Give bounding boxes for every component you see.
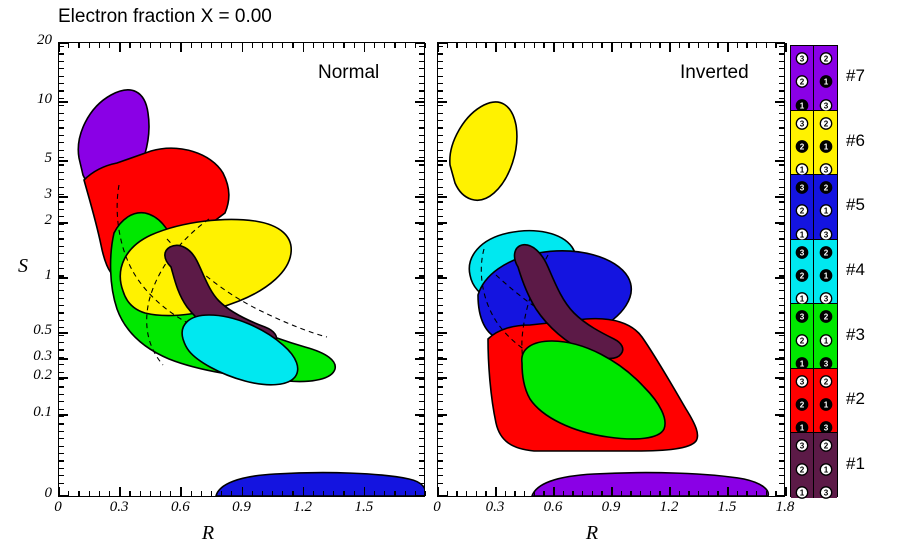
y-tick-label-9: 0.1: [8, 404, 52, 421]
y-minor-tick: [419, 475, 424, 476]
y-tick-label-7: 0.3: [8, 348, 52, 365]
y-minor-tick: [419, 409, 424, 410]
y-minor-tick: [438, 394, 443, 395]
y-minor-tick: [419, 379, 424, 380]
x-minor-tick: [592, 43, 593, 48]
y-minor-tick: [779, 261, 784, 262]
y-minor-tick: [59, 379, 64, 380]
x-minor-tick: [262, 43, 263, 48]
x-minor-tick: [485, 43, 486, 48]
x-minor-tick: [563, 491, 564, 496]
y-minor-tick: [438, 68, 443, 69]
y-minor-tick: [438, 446, 443, 447]
legend-tag-scheme-6: #6: [846, 131, 865, 151]
x-minor-tick: [221, 43, 222, 48]
y-minor-tick: [419, 135, 424, 136]
legend-column-right: 213: [814, 433, 837, 498]
y-minor-tick: [779, 431, 784, 432]
x-minor-tick: [109, 43, 110, 48]
svg-text:1: 1: [823, 336, 828, 345]
x-minor-tick: [384, 491, 385, 496]
y-minor-tick: [419, 68, 424, 69]
normal-regions-svg: [59, 43, 425, 497]
y-minor-tick: [779, 468, 784, 469]
y-minor-tick: [779, 246, 784, 247]
y-minor-tick: [419, 372, 424, 373]
y-minor-tick: [779, 394, 784, 395]
svg-text:1: 1: [823, 142, 828, 151]
y-minor-tick: [419, 246, 424, 247]
x-minor-tick: [456, 491, 457, 496]
x-minor-tick: [524, 491, 525, 496]
y-minor-tick: [59, 298, 64, 299]
y-tick-mark: [775, 101, 784, 103]
y-minor-tick: [419, 275, 424, 276]
y-tick-mark: [415, 332, 424, 334]
y-minor-tick: [59, 61, 64, 62]
y-minor-tick: [438, 401, 443, 402]
x-minor-tick: [303, 491, 304, 496]
y-minor-tick: [59, 446, 64, 447]
y-minor-tick: [438, 335, 443, 336]
mass-state-1-icon: 1: [819, 334, 832, 347]
y-minor-tick: [59, 172, 64, 173]
y-minor-tick: [419, 90, 424, 91]
x-minor-tick: [58, 43, 59, 48]
y-minor-tick: [419, 349, 424, 350]
legend-row[interactable]: 321213: [791, 111, 837, 176]
plot-panel-inverted: [437, 42, 785, 497]
x-minor-tick: [221, 491, 222, 496]
mass-state-3-icon: 3: [796, 117, 809, 130]
y-tick-mark: [59, 332, 68, 334]
legend-row[interactable]: 321213: [791, 175, 837, 240]
x-minor-tick: [495, 43, 496, 48]
y-minor-tick: [438, 46, 443, 47]
x-minor-tick: [543, 43, 544, 48]
x-minor-tick: [150, 43, 151, 48]
y-minor-tick: [59, 483, 64, 484]
y-minor-tick: [419, 394, 424, 395]
x-minor-tick: [323, 491, 324, 496]
y-minor-tick: [419, 83, 424, 84]
svg-text:3: 3: [823, 295, 828, 304]
legend-column-left: 321: [791, 369, 814, 433]
x-minor-tick: [354, 43, 355, 48]
y-minor-tick: [779, 120, 784, 121]
y-minor-tick: [438, 320, 443, 321]
x-minor-tick: [140, 491, 141, 496]
y-minor-tick: [779, 194, 784, 195]
y-minor-tick: [59, 372, 64, 373]
y-tick-mark: [438, 160, 447, 162]
y-minor-tick: [419, 268, 424, 269]
svg-text:3: 3: [823, 359, 828, 368]
y-minor-tick: [779, 150, 784, 151]
legend-tag-scheme-1: #1: [846, 454, 865, 474]
x-minor-tick: [640, 43, 641, 48]
x-minor-tick: [313, 491, 314, 496]
y-minor-tick: [59, 253, 64, 254]
y-minor-tick: [438, 201, 443, 202]
y-minor-tick: [419, 305, 424, 306]
y-minor-tick: [59, 468, 64, 469]
x-minor-tick: [364, 491, 365, 496]
x-minor-tick: [201, 43, 202, 48]
y-minor-tick: [779, 475, 784, 476]
y-tick-mark: [438, 277, 447, 279]
y-minor-tick: [438, 468, 443, 469]
y-minor-tick: [59, 475, 64, 476]
x-minor-tick: [425, 43, 426, 48]
legend-row[interactable]: 321213: [791, 433, 837, 498]
mass-state-3-icon: 3: [796, 375, 809, 388]
y-minor-tick: [419, 468, 424, 469]
y-minor-tick: [419, 253, 424, 254]
svg-text:3: 3: [800, 313, 805, 322]
y-minor-tick: [59, 201, 64, 202]
x-minor-tick: [476, 43, 477, 48]
y-minor-tick: [59, 120, 64, 121]
y-minor-tick: [419, 460, 424, 461]
x-minor-tick: [180, 491, 181, 496]
x-minor-tick: [170, 491, 171, 496]
svg-text:3: 3: [823, 424, 828, 433]
x-minor-tick: [374, 491, 375, 496]
y-minor-tick: [438, 261, 443, 262]
y-minor-tick: [438, 172, 443, 173]
y-minor-tick: [59, 423, 64, 424]
y-minor-tick: [779, 290, 784, 291]
x-minor-tick: [333, 43, 334, 48]
x-minor-tick: [756, 491, 757, 496]
legend-column-left: 321: [791, 46, 814, 110]
y-minor-tick: [419, 283, 424, 284]
x-minor-tick: [140, 43, 141, 48]
svg-text:3: 3: [823, 488, 828, 497]
y-minor-tick: [438, 238, 443, 239]
y-minor-tick: [779, 231, 784, 232]
svg-text:2: 2: [823, 313, 828, 322]
mass-state-2-icon: 2: [796, 204, 809, 217]
y-minor-tick: [779, 446, 784, 447]
y-minor-tick: [438, 194, 443, 195]
x-minor-tick: [514, 491, 515, 496]
y-tick-mark: [59, 160, 68, 162]
x-minor-tick: [447, 43, 448, 48]
svg-text:1: 1: [823, 207, 828, 216]
legend-row[interactable]: 321213: [791, 369, 837, 434]
x-minor-tick: [466, 491, 467, 496]
inverted-x-tick-label-1: 0.3: [470, 499, 520, 516]
svg-text:1: 1: [823, 401, 828, 410]
y-minor-tick: [779, 90, 784, 91]
y-minor-tick: [438, 409, 443, 410]
mass-state-2-icon: 2: [796, 75, 809, 88]
y-minor-tick: [438, 460, 443, 461]
y-minor-tick: [59, 76, 64, 77]
y-minor-tick: [59, 238, 64, 239]
y-minor-tick: [59, 135, 64, 136]
x-minor-tick: [582, 491, 583, 496]
scheme-legend: 3212133212133212133212133212133212133212…: [790, 45, 838, 497]
svg-text:3: 3: [823, 101, 828, 110]
svg-text:1: 1: [800, 359, 805, 368]
y-minor-tick: [779, 135, 784, 136]
x-minor-tick: [543, 491, 544, 496]
y-tick-mark: [415, 358, 424, 360]
x-minor-tick: [191, 491, 192, 496]
x-minor-tick: [688, 43, 689, 48]
x-minor-tick: [766, 491, 767, 496]
y-minor-tick: [59, 105, 64, 106]
y-tick-mark: [775, 358, 784, 360]
y-minor-tick: [59, 290, 64, 291]
x-minor-tick: [415, 491, 416, 496]
x-minor-tick: [447, 491, 448, 496]
mass-state-2-icon: 2: [796, 334, 809, 347]
x-minor-tick: [621, 491, 622, 496]
y-minor-tick: [59, 179, 64, 180]
y-tick-mark: [415, 160, 424, 162]
x-minor-tick: [425, 491, 426, 496]
y-minor-tick: [779, 224, 784, 225]
svg-text:3: 3: [800, 377, 805, 386]
y-minor-tick: [438, 305, 443, 306]
y-minor-tick: [438, 53, 443, 54]
x-minor-tick: [621, 43, 622, 48]
y-minor-tick: [419, 320, 424, 321]
svg-text:3: 3: [800, 442, 805, 451]
y-minor-tick: [779, 320, 784, 321]
y-minor-tick: [438, 453, 443, 454]
y-minor-tick: [59, 438, 64, 439]
mass-state-3-icon: 3: [796, 181, 809, 194]
y-minor-tick: [438, 298, 443, 299]
y-tick-mark: [438, 196, 447, 198]
svg-text:2: 2: [823, 119, 828, 128]
y-minor-tick: [59, 335, 64, 336]
x-minor-tick: [669, 43, 670, 48]
y-minor-tick: [59, 460, 64, 461]
y-minor-tick: [59, 261, 64, 262]
x-minor-tick: [650, 491, 651, 496]
normal-x-tick-label-4: 1.2: [278, 499, 328, 516]
mass-state-3-icon: 3: [796, 246, 809, 259]
svg-text:1: 1: [800, 488, 805, 497]
y-minor-tick: [779, 342, 784, 343]
y-minor-tick: [59, 83, 64, 84]
y-minor-tick: [779, 53, 784, 54]
y-minor-tick: [438, 386, 443, 387]
y-minor-tick: [779, 305, 784, 306]
y-minor-tick: [419, 157, 424, 158]
y-minor-tick: [419, 446, 424, 447]
x-minor-tick: [201, 491, 202, 496]
x-minor-tick: [775, 43, 776, 48]
x-minor-tick: [708, 43, 709, 48]
y-minor-tick: [419, 105, 424, 106]
y-minor-tick: [59, 342, 64, 343]
x-minor-tick: [242, 491, 243, 496]
x-minor-tick: [756, 43, 757, 48]
x-minor-tick: [698, 491, 699, 496]
y-tick-mark: [775, 160, 784, 162]
x-minor-tick: [405, 491, 406, 496]
x-minor-tick: [737, 491, 738, 496]
y-minor-tick: [779, 83, 784, 84]
x-minor-tick: [78, 491, 79, 496]
normal-x-tick-label-2: 0.6: [155, 499, 205, 516]
x-minor-tick: [78, 43, 79, 48]
y-minor-tick: [59, 268, 64, 269]
y-minor-tick: [779, 423, 784, 424]
y-minor-tick: [59, 275, 64, 276]
legend-row[interactable]: 321213: [791, 304, 837, 369]
y-minor-tick: [59, 90, 64, 91]
y-minor-tick: [419, 335, 424, 336]
y-minor-tick: [779, 209, 784, 210]
y-tick-mark: [59, 277, 68, 279]
y-minor-tick: [779, 379, 784, 380]
y-minor-tick: [779, 409, 784, 410]
y-minor-tick: [779, 179, 784, 180]
legend-column-left: 321: [791, 240, 814, 304]
y-minor-tick: [59, 453, 64, 454]
x-minor-tick: [119, 43, 120, 48]
x-minor-tick: [170, 43, 171, 48]
x-minor-tick: [394, 491, 395, 496]
y-minor-tick: [438, 246, 443, 247]
mass-state-3-icon: 3: [796, 439, 809, 452]
mass-state-1-icon: 1: [819, 204, 832, 217]
svg-text:1: 1: [800, 230, 805, 239]
y-minor-tick: [779, 401, 784, 402]
y-tick-mark: [438, 495, 447, 497]
x-minor-tick: [231, 491, 232, 496]
x-minor-tick: [698, 43, 699, 48]
x-minor-tick: [405, 43, 406, 48]
y-tick-mark: [415, 277, 424, 279]
y-minor-tick: [59, 305, 64, 306]
y-tick-label-6: 0.5: [8, 322, 52, 339]
x-minor-tick: [292, 491, 293, 496]
x-minor-tick: [262, 491, 263, 496]
y-minor-tick: [438, 327, 443, 328]
y-minor-tick: [438, 105, 443, 106]
y-minor-tick: [779, 216, 784, 217]
y-minor-tick: [419, 46, 424, 47]
x-minor-tick: [785, 491, 786, 496]
y-minor-tick: [779, 187, 784, 188]
x-minor-tick: [766, 43, 767, 48]
mass-state-2-icon: 2: [819, 375, 832, 388]
inverted-x-tick-label-0: 0: [412, 499, 462, 516]
x-minor-tick: [150, 491, 151, 496]
y-minor-tick: [779, 453, 784, 454]
y-minor-tick: [59, 401, 64, 402]
x-minor-tick: [109, 491, 110, 496]
y-minor-tick: [59, 127, 64, 128]
mass-state-2-icon: 2: [796, 140, 809, 153]
legend-tag-scheme-4: #4: [846, 260, 865, 280]
y-tick-mark: [415, 196, 424, 198]
x-minor-tick: [252, 43, 253, 48]
x-minor-tick: [524, 43, 525, 48]
y-minor-tick: [419, 216, 424, 217]
x-minor-tick: [717, 491, 718, 496]
y-minor-tick: [779, 172, 784, 173]
inverted-x-tick-label-4: 1.2: [644, 499, 694, 516]
legend-column-right: 213: [814, 46, 837, 110]
legend-row[interactable]: 321213: [791, 240, 837, 305]
y-minor-tick: [779, 113, 784, 114]
y-minor-tick: [438, 483, 443, 484]
x-minor-tick: [129, 491, 130, 496]
x-minor-tick: [252, 491, 253, 496]
y-tick-mark: [59, 495, 68, 497]
y-minor-tick: [59, 224, 64, 225]
x-minor-tick: [746, 491, 747, 496]
y-minor-tick: [779, 157, 784, 158]
x-minor-tick: [659, 43, 660, 48]
y-tick-label-1: 10: [8, 91, 52, 108]
y-minor-tick: [59, 283, 64, 284]
y-tick-label-2: 5: [8, 150, 52, 167]
legend-row[interactable]: 321213: [791, 46, 837, 111]
y-minor-tick: [419, 209, 424, 210]
y-minor-tick: [419, 401, 424, 402]
y-minor-tick: [419, 364, 424, 365]
y-minor-tick: [419, 327, 424, 328]
normal-x-tick-label-1: 0.3: [94, 499, 144, 516]
y-minor-tick: [779, 68, 784, 69]
inverted-x-tick-label-2: 0.6: [528, 499, 578, 516]
x-minor-tick: [384, 43, 385, 48]
y-minor-tick: [438, 61, 443, 62]
y-minor-tick: [419, 194, 424, 195]
y-minor-tick: [419, 53, 424, 54]
mass-state-2-icon: 2: [819, 439, 832, 452]
y-minor-tick: [419, 61, 424, 62]
y-tick-mark: [438, 358, 447, 360]
y-minor-tick: [779, 105, 784, 106]
y-minor-tick: [59, 98, 64, 99]
mass-state-3-icon: 3: [819, 486, 832, 499]
x-minor-tick: [272, 43, 273, 48]
y-minor-tick: [438, 135, 443, 136]
x-minor-tick: [785, 43, 786, 48]
legend-column-right: 213: [814, 304, 837, 368]
y-minor-tick: [59, 164, 64, 165]
svg-text:2: 2: [800, 142, 805, 151]
figure-root: Electron fraction X = 0.00 Normal: [0, 0, 900, 555]
y-minor-tick: [779, 201, 784, 202]
y-tick-mark: [438, 332, 447, 334]
svg-text:2: 2: [800, 465, 805, 474]
y-minor-tick: [438, 120, 443, 121]
y-minor-tick: [438, 76, 443, 77]
y-minor-tick: [438, 187, 443, 188]
y-minor-tick: [419, 423, 424, 424]
mass-state-2-icon: 2: [819, 246, 832, 259]
y-tick-mark: [415, 495, 424, 497]
svg-text:2: 2: [823, 442, 828, 451]
svg-text:2: 2: [823, 248, 828, 257]
x-minor-tick: [180, 43, 181, 48]
y-minor-tick: [419, 224, 424, 225]
y-minor-tick: [419, 312, 424, 313]
